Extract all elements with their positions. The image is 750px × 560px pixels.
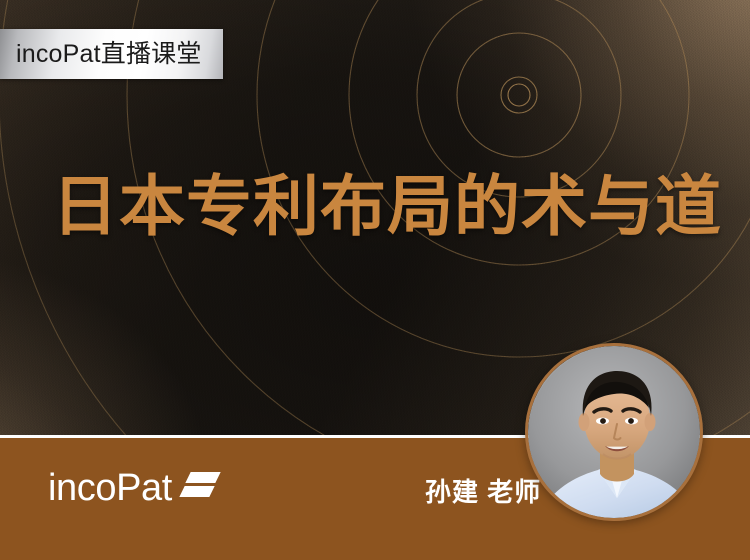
speaker-avatar bbox=[525, 343, 703, 521]
live-course-poster: incoPat直播课堂 日本专利布局的术与道 incoPat 孙建 老师 bbox=[0, 0, 750, 560]
incopat-logo: incoPat bbox=[48, 469, 220, 507]
channel-badge: incoPat直播课堂 bbox=[0, 29, 223, 79]
channel-badge-label: incoPat直播课堂 bbox=[16, 42, 202, 67]
double-slash-logo-icon bbox=[178, 471, 220, 505]
incopat-wordmark: incoPat bbox=[48, 469, 172, 507]
speaker-photo bbox=[528, 346, 700, 518]
page-title: 日本专利布局的术与道 bbox=[52, 173, 712, 239]
speaker-name: 孙建 老师 bbox=[425, 479, 541, 505]
